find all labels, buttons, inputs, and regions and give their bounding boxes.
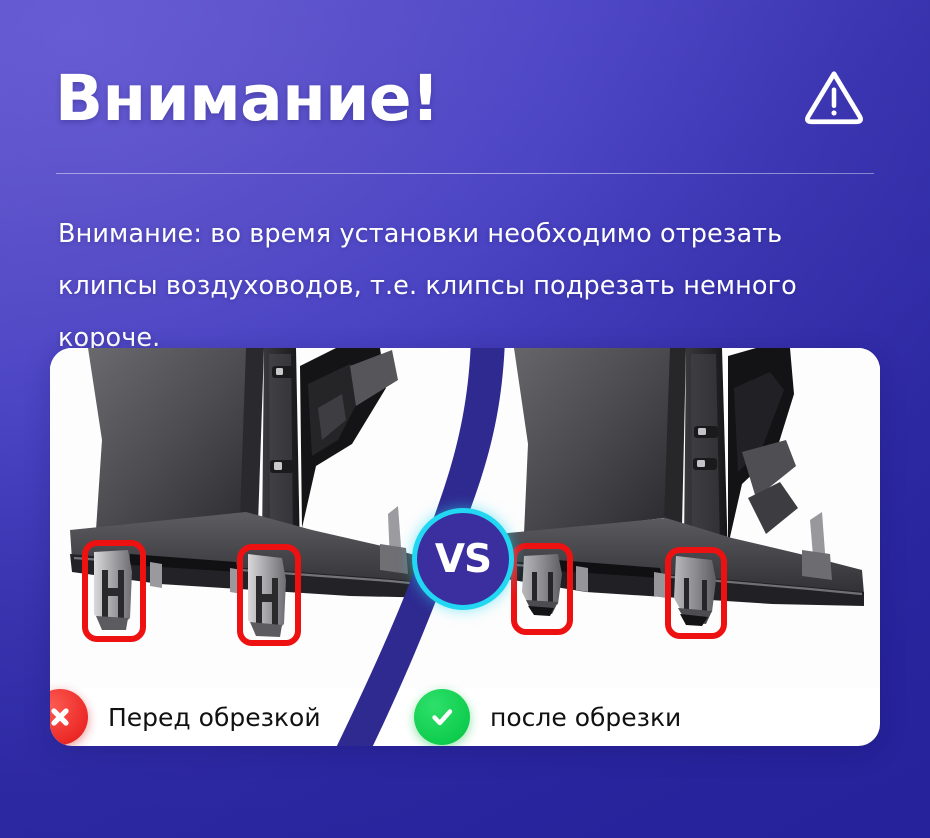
air-duct-illustration-before bbox=[50, 348, 480, 688]
banner-header: Внимание! bbox=[55, 48, 875, 148]
caption-after: после обрезки bbox=[414, 688, 681, 746]
clip-uncut-1 bbox=[94, 550, 132, 630]
photo-before-cut bbox=[50, 348, 480, 688]
warning-paragraph: Внимание: во время установки необходимо … bbox=[58, 208, 888, 364]
cross-icon bbox=[50, 689, 88, 745]
header-divider bbox=[56, 173, 874, 174]
page-title: Внимание! bbox=[55, 67, 439, 130]
warning-triangle-icon bbox=[801, 65, 867, 131]
air-duct-illustration-after bbox=[480, 348, 880, 688]
caption-before-label: Перед обрезкой bbox=[108, 703, 321, 732]
check-icon bbox=[414, 689, 470, 745]
clip-uncut-2 bbox=[248, 554, 286, 637]
attention-banner: Внимание! Внимание: во время установки н… bbox=[0, 0, 930, 838]
photo-after-cut bbox=[480, 348, 880, 688]
caption-after-label: после обрезки bbox=[490, 703, 681, 732]
comparison-card: VS Перед обрезкой после обрезки bbox=[50, 348, 880, 746]
vs-label: VS bbox=[435, 537, 491, 582]
vs-badge: VS bbox=[412, 508, 514, 610]
caption-before: Перед обрезкой bbox=[50, 688, 321, 746]
